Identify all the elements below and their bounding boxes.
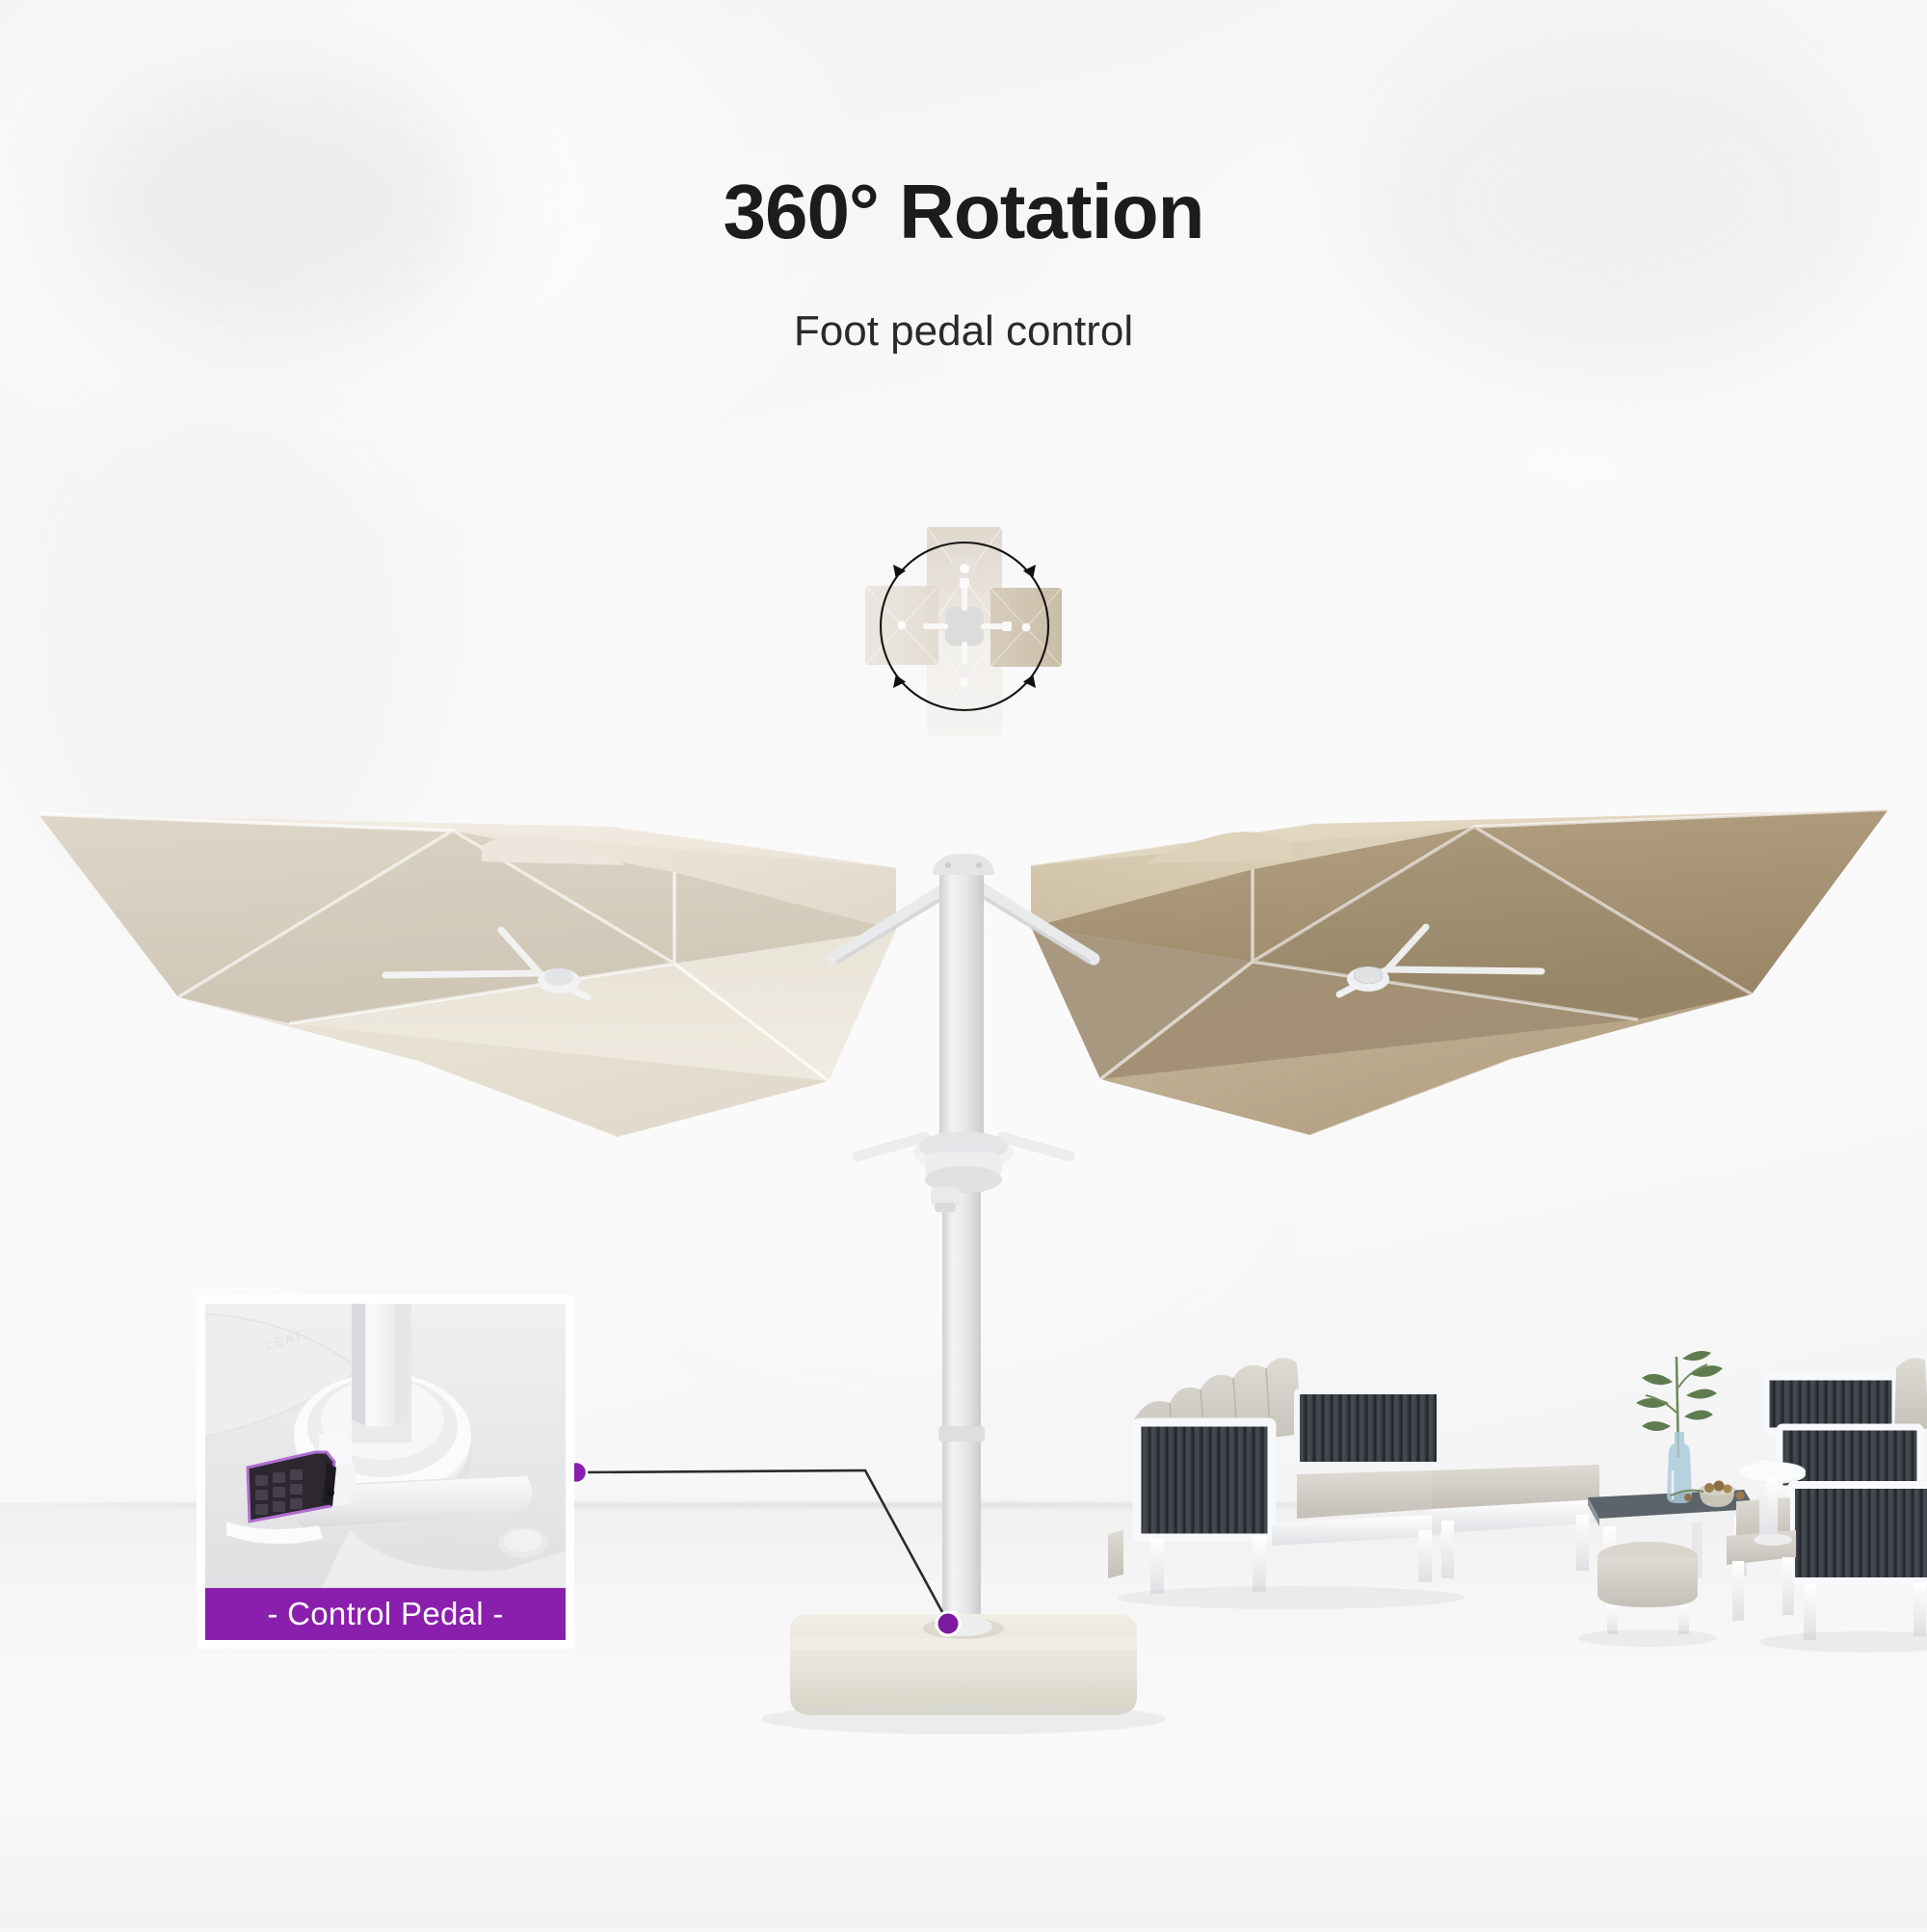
plant-vase [1636, 1351, 1723, 1503]
callout-connector [540, 1426, 1002, 1677]
support-arms-shade [838, 892, 1089, 962]
support-arms [833, 887, 1094, 959]
ottoman [1597, 1542, 1698, 1634]
callout-dot-end [937, 1612, 960, 1635]
backdrop-blotch [39, 405, 405, 906]
product-feature-image: 360° Rotation Foot pedal control [0, 0, 1927, 1927]
rotation-diagram [848, 511, 1079, 752]
hub-pedal-nub [931, 1187, 960, 1212]
right-canopy-ribs [1339, 927, 1542, 994]
page-title: 360° Rotation [0, 173, 1927, 251]
right-canopy [1031, 809, 1888, 1135]
right-canopy-crown [1147, 832, 1291, 863]
backdrop-blotch [578, 944, 1253, 1349]
inset-caption: - Control Pedal - [205, 1588, 566, 1640]
left-canopy-ribs [385, 930, 588, 997]
left-canopy [39, 814, 896, 1137]
left-canopy-hub [538, 968, 580, 993]
patio-furniture-scene [1108, 1330, 1927, 1734]
control-pedal-photo: LEAF PURPLE L [205, 1304, 566, 1588]
right-canopy-hub [1347, 966, 1389, 992]
sectional-sofa [1133, 1358, 1439, 1594]
left-canopy-crown [482, 834, 626, 865]
control-pedal-inset[interactable]: LEAF PURPLE L [198, 1296, 573, 1648]
corner-seat [1432, 1465, 1599, 1578]
callout-line [578, 1470, 948, 1623]
page-subtitle: Foot pedal control [0, 310, 1927, 353]
lower-spreader-arms [858, 1137, 1069, 1156]
rotation-hub-collar [913, 1131, 1014, 1193]
plant-foliage [1636, 1351, 1723, 1431]
chair-edge-left [1108, 1530, 1123, 1578]
